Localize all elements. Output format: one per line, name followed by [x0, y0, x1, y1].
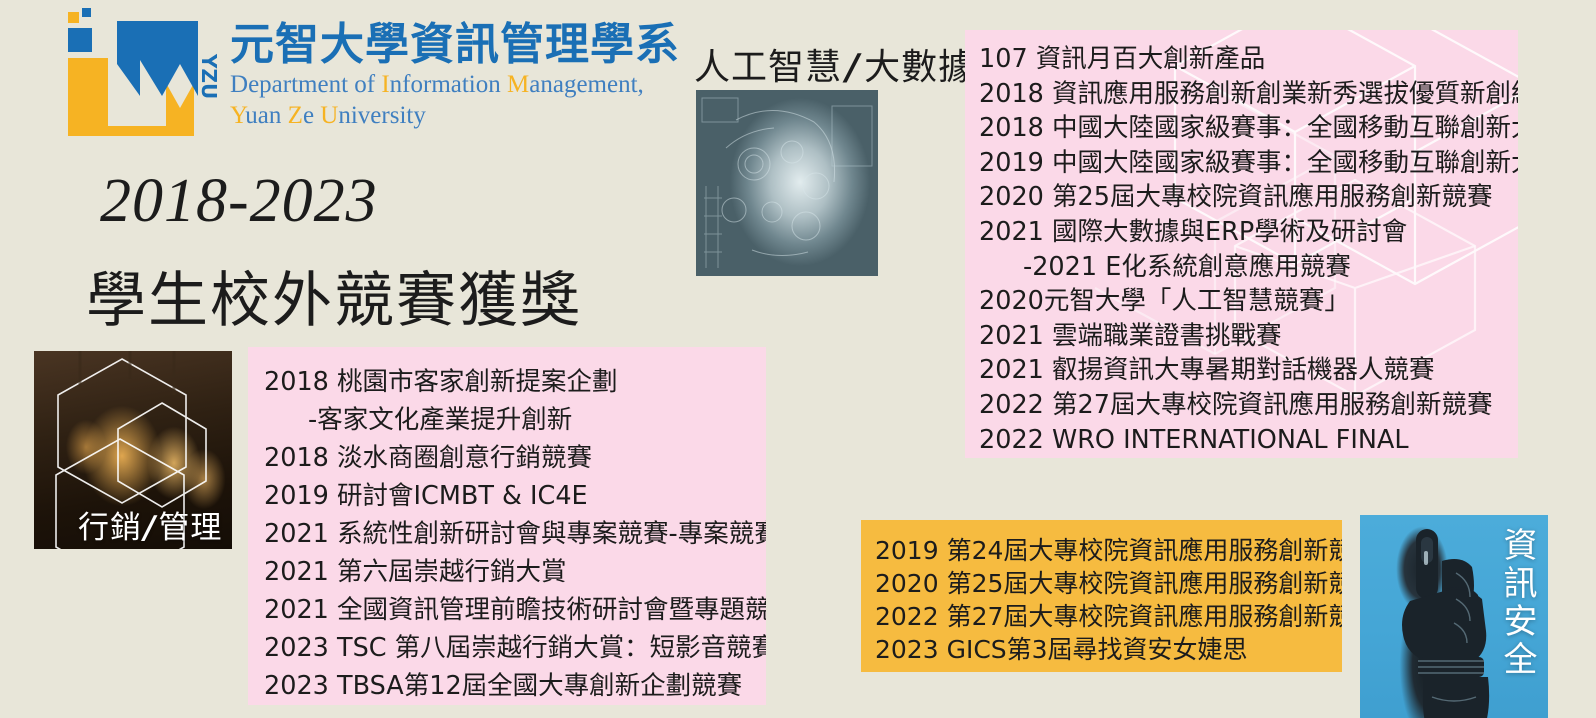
- logo-en-e: e: [303, 102, 320, 129]
- marketing-cafe-image: 行銷/管理: [34, 351, 232, 549]
- list-item: 2022 第27屆大專校院資訊應用服務創新競賽: [875, 600, 1342, 633]
- list-item: 2021 系統性創新研討會與專案競賽-專案競賽獎: [264, 515, 766, 553]
- list-item: 2018 資訊應用服務創新創業新秀選拔優質新創組: [979, 77, 1518, 112]
- logo-en-seg1: epartment of: [248, 71, 381, 98]
- list-item: 2018 中國大陸國家級賽事：全國移動互聯創新大賽: [979, 111, 1518, 146]
- marketing-awards-list: 2018 桃園市客家創新提案企劃 -客家文化產業提升創新 2018 淡水商圈創意…: [248, 347, 766, 705]
- security-awards-panel: 2019 第24屆大專校院資訊應用服務創新競賽 2020 第25屆大專校院資訊應…: [861, 520, 1342, 672]
- list-item: 2022 第27屆大專校院資訊應用服務創新競賽: [979, 388, 1518, 423]
- logo-en-u: U: [320, 102, 338, 129]
- marketing-caption-left: 行銷: [78, 510, 142, 546]
- ai-heading-left: 人工智慧: [694, 47, 842, 88]
- logo-en-i: I: [381, 71, 389, 98]
- logo-text-block: 元智大學資訊管理學系 Department of Information Man…: [230, 22, 700, 131]
- list-item: 2023 TBSA第12屆全國大專創新企劃競賽: [264, 667, 766, 705]
- poster-canvas: YZU 元智大學資訊管理學系 Department of Information…: [0, 0, 1596, 718]
- yzu-im-logo-mark: YZU: [62, 8, 222, 150]
- poster-title: 學生校外競賽獲獎: [86, 252, 582, 339]
- ai-section-heading: 人工智慧/大數據: [694, 38, 975, 90]
- logo-en-seg3: anagement,: [529, 71, 644, 98]
- logo-en-niversity: niversity: [338, 102, 426, 129]
- list-item: 2020元智大學「人工智慧競賽」: [979, 284, 1518, 319]
- list-item: 2019 研討會ICMBT & IC4E: [264, 477, 766, 515]
- ai-robot-head-image: [696, 90, 878, 276]
- logo-en-uan: uan: [245, 102, 287, 129]
- poster-year-range: 2018-2023: [100, 166, 378, 237]
- security-tile-caption: 資訊安全: [1494, 527, 1538, 679]
- list-item: 2021 叡揚資訊大專暑期對話機器人競賽: [979, 353, 1518, 388]
- marketing-caption-right: 管理: [158, 510, 222, 546]
- department-logo: YZU 元智大學資訊管理學系 Department of Information…: [62, 8, 662, 153]
- list-item: 2018 淡水商圈創意行銷競賽: [264, 439, 766, 477]
- logo-en-z: Z: [288, 102, 303, 129]
- list-item: -2021 E化系統創意應用競賽: [979, 250, 1518, 285]
- list-item: -客家文化產業提升創新: [264, 401, 766, 439]
- list-item: 2019 第24屆大專校院資訊應用服務創新競賽: [875, 534, 1342, 567]
- list-item: 2019 中國大陸國家級賽事：全國移動互聯創新大賽: [979, 146, 1518, 181]
- list-item: 2022 WRO INTERNATIONAL FINAL: [979, 423, 1518, 458]
- logo-chinese-title: 元智大學資訊管理學系: [230, 22, 700, 68]
- list-item: 2021 全國資訊管理前瞻技術研討會暨專題競賽: [264, 591, 766, 629]
- list-item: 2023 TSC 第八屆崇越行銷大賞：短影音競賽: [264, 629, 766, 667]
- ai-awards-panel: 107 資訊月百大創新產品 2018 資訊應用服務創新創業新秀選拔優質新創組 2…: [965, 30, 1518, 458]
- security-robot-hand-image: 資訊安全: [1360, 515, 1548, 718]
- logo-en-d: D: [230, 71, 248, 98]
- ai-awards-list: 107 資訊月百大創新產品 2018 資訊應用服務創新創業新秀選拔優質新創組 2…: [965, 30, 1518, 457]
- list-item: 107 資訊月百大創新產品: [979, 42, 1518, 77]
- logo-english-line2: Yuan Ze University: [230, 101, 700, 132]
- ai-robot-head-detail-icon: [696, 90, 878, 276]
- logo-en-m: M: [507, 71, 529, 98]
- list-item: 2023 GICS第3屆尋找資安女婕思: [875, 633, 1342, 666]
- list-item: 2020 第25屆大專校院資訊應用服務創新競賽: [875, 567, 1342, 600]
- logo-en-y: Y: [230, 102, 245, 129]
- logo-english-line1: Department of Information Management,: [230, 70, 700, 101]
- list-item: 2021 第六屆崇越行銷大賞: [264, 553, 766, 591]
- logo-en-seg2: nformation: [390, 71, 507, 98]
- marketing-caption-slash: /: [142, 510, 158, 546]
- svg-text:YZU: YZU: [197, 53, 221, 99]
- security-awards-list: 2019 第24屆大專校院資訊應用服務創新競賽 2020 第25屆大專校院資訊應…: [861, 520, 1342, 666]
- list-item: 2021 雲端職業證書挑戰賽: [979, 319, 1518, 354]
- marketing-awards-panel: 2018 桃園市客家創新提案企劃 -客家文化產業提升創新 2018 淡水商圈創意…: [248, 347, 766, 705]
- list-item: 2020 第25屆大專校院資訊應用服務創新競賽: [979, 180, 1518, 215]
- list-item: 2018 桃園市客家創新提案企劃: [264, 363, 766, 401]
- list-item: 2021 國際大數據與ERP學術及研討會: [979, 215, 1518, 250]
- ai-heading-slash: /: [842, 47, 864, 88]
- marketing-tile-caption: 行銷/管理: [78, 502, 222, 547]
- ai-heading-right: 大數據: [864, 47, 975, 88]
